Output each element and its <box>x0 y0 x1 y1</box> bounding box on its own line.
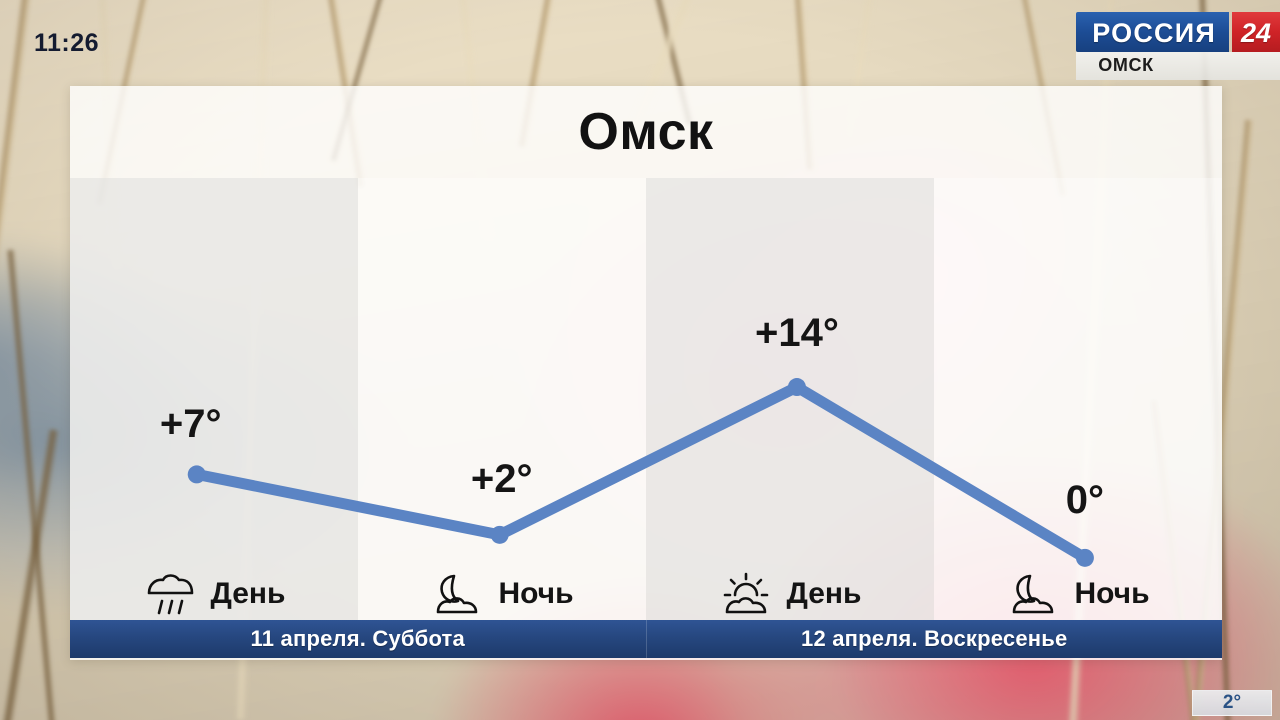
date-label-1: 12 апреля. Воскресенье <box>646 620 1223 658</box>
moon-cloud-icon <box>1006 571 1060 617</box>
channel-logo-row: РОССИЯ 24 <box>1076 12 1280 52</box>
channel-name-badge: РОССИЯ <box>1076 12 1229 52</box>
channel-number-badge: 24 <box>1232 12 1280 52</box>
page-title: Омск <box>70 86 1222 178</box>
chart-point-0 <box>188 465 206 483</box>
legend-label-1: Ночь <box>498 577 573 611</box>
legend-label-2: День <box>787 577 862 611</box>
temperature-chart: +7° +2° +14° 0° <box>70 178 1222 568</box>
moon-cloud-icon <box>430 571 484 617</box>
corner-temperature-badge: 2° <box>1192 690 1272 716</box>
chart-point-2 <box>788 378 806 396</box>
channel-logo: РОССИЯ 24 ОМСК <box>1076 12 1280 80</box>
channel-region-label: ОМСК <box>1076 52 1280 80</box>
legend-cell-0: День <box>70 568 358 620</box>
temp-label-1: +2° <box>471 457 533 502</box>
chart-line <box>197 387 1085 558</box>
legend-cell-1: Ночь <box>358 568 646 620</box>
temp-label-3: 0° <box>1066 478 1104 523</box>
daypart-legend-row: День Ночь <box>70 568 1222 620</box>
chart-point-3 <box>1076 549 1094 567</box>
weather-card: Омск +7° +2° +14° 0° День <box>70 86 1222 660</box>
date-label-0: 11 апреля. Суббота <box>70 620 646 658</box>
legend-cell-2: День <box>646 568 934 620</box>
sun-cloud-icon <box>719 571 773 617</box>
legend-label-0: День <box>211 577 286 611</box>
date-bar: 11 апреля. Суббота 12 апреля. Воскресень… <box>70 620 1222 658</box>
legend-label-3: Ночь <box>1074 577 1149 611</box>
rain-cloud-icon <box>143 571 197 617</box>
chart-point-1 <box>491 526 509 544</box>
temp-label-0: +7° <box>160 402 222 447</box>
legend-cell-3: Ночь <box>934 568 1222 620</box>
broadcast-clock: 11:26 <box>34 29 99 58</box>
temp-label-2: +14° <box>755 311 839 356</box>
temperature-line-svg <box>70 178 1222 568</box>
